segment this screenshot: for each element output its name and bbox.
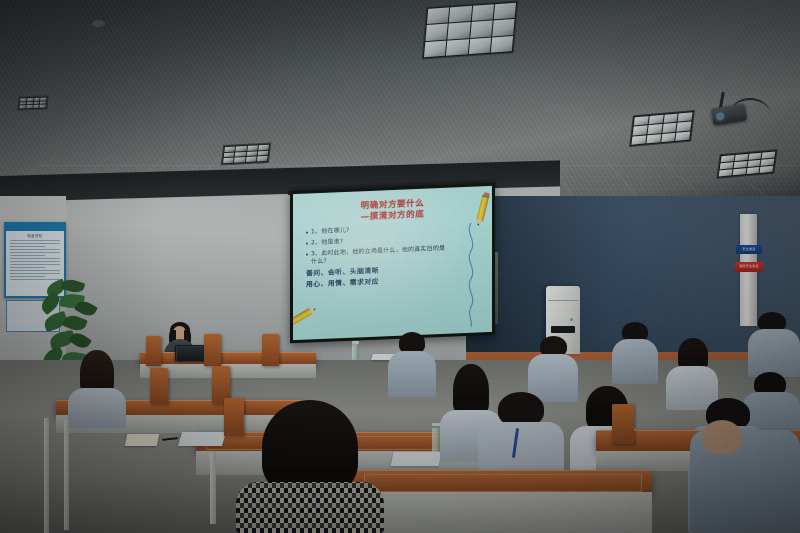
desk-divider <box>150 368 168 404</box>
poster-title: 制度须知 <box>6 233 64 238</box>
blue-sign-label: 安全通道 <box>736 245 762 254</box>
papers-on-desk <box>391 452 442 466</box>
ac-seam-line <box>548 300 578 301</box>
wavy-line-decoration <box>464 222 478 327</box>
desk-divider <box>204 334 221 366</box>
red-sign-label: 消防安全责任 <box>735 262 763 271</box>
attendee-center-blue-shirt <box>388 332 436 396</box>
louver-light <box>221 143 271 166</box>
attendee-right-edge-arm <box>690 420 800 533</box>
classroom-scene-photo: 制度须知 安全通道 消防安全责任 <box>0 0 800 533</box>
presentation-slide: 明确对方要什么 —摸清对方的底 1、他在哪儿? 2、他是谁? 3、此时此地，他的… <box>293 186 492 340</box>
attendee-foreground-patterned-top <box>236 400 384 533</box>
projector-lens-icon <box>716 112 725 121</box>
bullet-dot-icon <box>306 231 308 233</box>
desk-leg <box>210 452 216 524</box>
poster-header-bar <box>6 224 64 231</box>
ac-indicator-icon <box>570 318 573 321</box>
notebook-on-desk <box>125 434 160 446</box>
desk-leg <box>64 420 69 530</box>
red-wall-banner: 消防安全责任 <box>735 262 763 272</box>
louver-light <box>422 1 518 60</box>
water-bottle <box>352 344 359 360</box>
desk-row-4-front-panel <box>352 492 652 533</box>
papers-on-desk <box>178 432 226 446</box>
bottle-cap <box>352 341 359 344</box>
smoke-detector-icon <box>92 20 105 27</box>
ac-vent <box>551 326 575 333</box>
attendee-back-row-center <box>612 322 658 384</box>
presenter-laptop <box>175 345 205 361</box>
projection-screen: 明确对方要什么 —摸清对方的底 1、他在哪儿? 2、他是谁? 3、此时此地，他的… <box>290 183 495 344</box>
blue-wall-sign: 安全通道 <box>736 245 762 254</box>
bullet-dot-icon <box>306 253 308 255</box>
desk-divider <box>146 336 161 366</box>
attendee-back-right-standing <box>748 312 800 376</box>
desk-divider <box>262 334 279 366</box>
bullet-dot-icon <box>306 242 308 244</box>
louver-light <box>17 95 48 110</box>
desk-divider <box>612 404 634 444</box>
louver-light <box>629 110 695 147</box>
pencil-icon <box>293 305 317 328</box>
attendee-front-left-long-hair <box>66 350 128 422</box>
desk-leg <box>44 418 49 533</box>
